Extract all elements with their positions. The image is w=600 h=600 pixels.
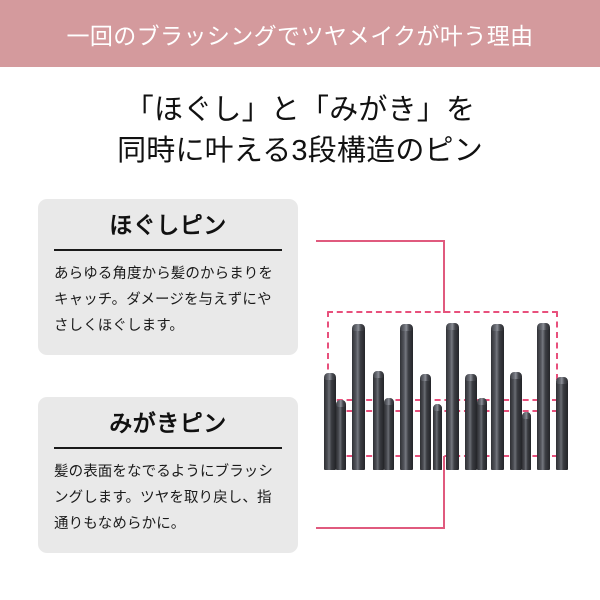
brush-pin-tip [400, 324, 413, 331]
banner-title: 一回のブラッシングでツヤメイクが叶う理由 [66, 17, 533, 51]
card-title: みがきピン [54, 410, 282, 447]
connector-line-top-horizontal [316, 240, 445, 242]
info-card-migaki-pin: みがきピン 髪の表面をなでるようにブラッシングします。ツヤを取り戻し、指通りもな… [38, 397, 298, 553]
brush-pin [400, 324, 413, 470]
brush-pin-tip [336, 400, 346, 407]
headline-line-1: 「ほぐし」と「みがき」を [125, 94, 475, 126]
brush-pin-tip [352, 324, 365, 331]
brush-pin [491, 324, 504, 470]
brush-pin [537, 323, 550, 470]
brush-pin [324, 373, 336, 470]
brush-pin [420, 374, 432, 470]
brush-pin [510, 372, 522, 470]
card-divider [54, 249, 282, 251]
card-title: ほぐしピン [54, 212, 282, 249]
brush-pin-tip [537, 323, 550, 330]
brush-pin [446, 323, 459, 470]
brush-pin-tip [465, 374, 477, 381]
brush-pin [433, 404, 442, 470]
brush-pin [384, 398, 393, 470]
brush-pin [373, 371, 385, 470]
brush-pin-tip [477, 398, 486, 405]
brush-pin-tip [510, 372, 522, 379]
brush-pin [352, 324, 365, 470]
brush-pin [465, 374, 477, 470]
brush-pin-tip [433, 404, 442, 411]
page-root: 一回のブラッシングでツヤメイクが叶う理由 「ほぐし」と「みがき」を 同時に叶える… [0, 0, 600, 600]
brush-pin-tip [373, 371, 385, 378]
card-divider [54, 447, 282, 449]
brush-pin-tip [324, 373, 336, 380]
brush-pin-tip [522, 412, 531, 419]
brush-pin-tip [446, 323, 459, 330]
brush-pin [522, 412, 531, 470]
connector-line-bottom-horizontal [316, 527, 445, 529]
brush-pin-tip [491, 324, 504, 331]
brush-pin-tip [420, 374, 432, 381]
page-headline: 「ほぐし」と「みがき」を 同時に叶える3段構造のピン [0, 90, 600, 172]
brush-pin [477, 398, 486, 470]
info-card-hogushi-pin: ほぐしピン あらゆる角度から髪のからまりをキャッチ。ダメージを与えずにやさしくほ… [38, 199, 298, 355]
brush-pin-tip [556, 377, 568, 384]
card-body-text: 髪の表面をなでるようにブラッシングします。ツヤを取り戻し、指通りもなめらかに。 [54, 459, 282, 538]
brush-pin [336, 400, 346, 470]
card-body-text: あらゆる角度から髪のからまりをキャッチ。ダメージを与えずにやさしくほぐします。 [54, 261, 282, 340]
headline-line-2: 同時に叶える3段構造のピン [0, 131, 600, 172]
brush-pin [556, 377, 568, 470]
page-banner: 一回のブラッシングでツヤメイクが叶う理由 [0, 0, 600, 67]
brush-pin-tip [384, 398, 393, 405]
